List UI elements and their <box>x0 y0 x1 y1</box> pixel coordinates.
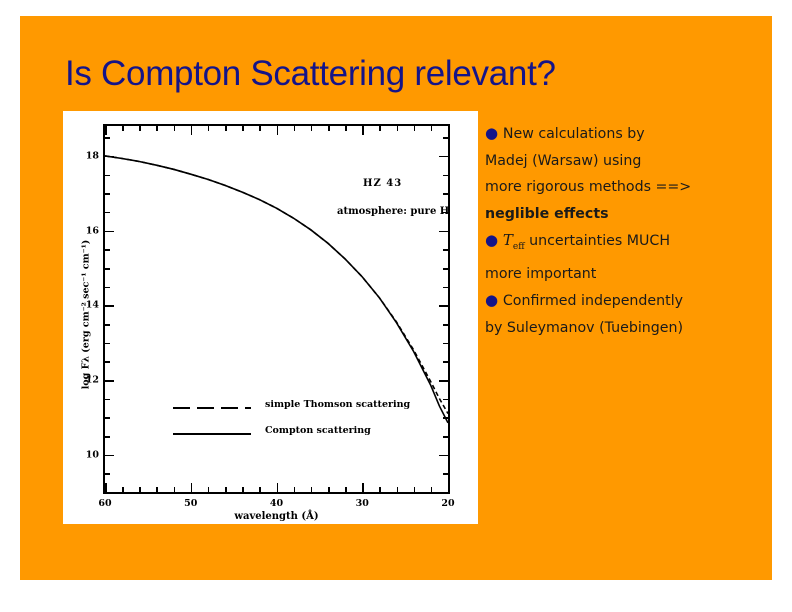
teff-symbol: Teff <box>503 231 525 249</box>
y-tick <box>105 324 110 326</box>
curve-thomson <box>105 156 448 414</box>
y-tick <box>105 473 110 475</box>
y-tick <box>105 343 110 345</box>
y-tick <box>443 436 448 438</box>
x-tick <box>225 487 227 492</box>
x-tick <box>328 126 330 131</box>
x-tick-label: 60 <box>98 498 111 509</box>
bullet-line: ● Teff uncertainties MUCH <box>485 227 760 261</box>
y-tick <box>443 268 448 270</box>
x-tick <box>294 126 296 131</box>
x-tick <box>311 487 313 492</box>
x-tick <box>311 126 313 131</box>
y-tick <box>443 249 448 251</box>
y-tick <box>105 287 110 289</box>
legend-label-thomson: simple Thomson scattering <box>265 399 410 410</box>
y-tick <box>443 492 448 494</box>
bullet-text: New calculations by <box>503 126 645 142</box>
x-tick <box>379 487 381 492</box>
bullet-line: more rigorous methods ==> <box>485 174 760 201</box>
legend-label-compton: Compton scattering <box>265 425 371 436</box>
y-tick <box>443 324 448 326</box>
bullet-line: Madej (Warsaw) using <box>485 148 760 175</box>
x-tick <box>294 487 296 492</box>
y-tick <box>443 343 448 345</box>
x-tick <box>379 126 381 131</box>
y-tick <box>443 137 448 139</box>
x-tick <box>345 126 347 131</box>
x-tick <box>448 483 450 492</box>
y-tick <box>105 193 110 195</box>
bullet-list: ● New calculations byMadej (Warsaw) usin… <box>485 120 760 341</box>
bullet-text: uncertainties MUCH <box>529 233 670 249</box>
y-tick <box>443 175 448 177</box>
x-tick <box>328 487 330 492</box>
y-tick <box>105 249 110 251</box>
legend-swatch-solid <box>173 433 251 435</box>
x-tick <box>414 126 416 131</box>
bullet-marker-icon: ● <box>485 124 503 142</box>
y-tick <box>105 175 110 177</box>
x-tick <box>277 483 279 492</box>
slide-background: Is Compton Scattering relevant? HZ 43 at… <box>20 16 772 580</box>
y-tick <box>443 193 448 195</box>
x-tick <box>174 487 176 492</box>
y-tick <box>105 436 110 438</box>
y-tick <box>439 305 448 307</box>
annotation-atmosphere: atmosphere: pure H <box>337 206 449 217</box>
x-tick <box>174 126 176 131</box>
bullet-text: by Suleymanov (Tuebingen) <box>485 320 683 336</box>
x-tick <box>191 126 193 135</box>
y-tick <box>105 212 110 214</box>
legend-swatch-dashed <box>173 407 251 409</box>
x-tick <box>277 126 279 135</box>
y-tick <box>443 473 448 475</box>
x-tick <box>397 126 399 131</box>
x-tick <box>414 487 416 492</box>
x-tick <box>105 483 107 492</box>
x-tick <box>397 487 399 492</box>
y-tick <box>105 492 110 494</box>
x-tick <box>139 487 141 492</box>
x-axis-title: wavelength (Å) <box>103 511 450 522</box>
x-tick <box>122 126 124 131</box>
teff-subscript: eff <box>513 242 525 252</box>
x-tick <box>259 126 261 131</box>
bullet-line: ● New calculations by <box>485 120 760 148</box>
x-tick <box>259 487 261 492</box>
y-tick <box>443 361 448 363</box>
bullet-line: by Suleymanov (Tuebingen) <box>485 315 760 342</box>
y-tick <box>105 156 114 158</box>
bullet-line: ● Confirmed independently <box>485 287 760 315</box>
y-tick <box>443 399 448 401</box>
bullet-text: Confirmed independently <box>503 293 683 309</box>
y-tick <box>105 231 114 233</box>
x-tick <box>156 487 158 492</box>
bullet-text: neglible effects <box>485 206 609 222</box>
bullet-text: Madej (Warsaw) using <box>485 153 641 169</box>
plot-area: HZ 43 atmosphere: pure H simple Thomson … <box>103 124 450 494</box>
y-axis-title: log Fλ (erg cm⁻² sec⁻¹ cm⁻¹) <box>81 200 92 430</box>
curve-compton <box>105 156 448 423</box>
bullet-line: more important <box>485 261 760 288</box>
bullet-marker-icon: ● <box>485 231 503 249</box>
annotation-object-name: HZ 43 <box>363 178 402 189</box>
x-tick <box>362 126 364 135</box>
y-tick <box>439 231 448 233</box>
y-tick <box>443 287 448 289</box>
x-tick-label: 20 <box>441 498 454 509</box>
x-tick <box>242 487 244 492</box>
y-tick <box>439 380 448 382</box>
x-tick <box>208 126 210 131</box>
x-tick <box>448 126 450 135</box>
x-tick <box>431 487 433 492</box>
x-tick <box>225 126 227 131</box>
x-tick <box>122 487 124 492</box>
bullet-text: more rigorous methods ==> <box>485 179 691 195</box>
y-tick <box>443 212 448 214</box>
y-tick <box>105 268 110 270</box>
x-tick <box>208 487 210 492</box>
x-tick <box>156 126 158 131</box>
x-tick-label: 50 <box>184 498 197 509</box>
y-tick <box>105 417 110 419</box>
y-tick <box>105 361 110 363</box>
y-tick-label: 18 <box>73 150 99 161</box>
bullet-text: more important <box>485 266 596 282</box>
x-tick <box>242 126 244 131</box>
x-tick <box>139 126 141 131</box>
y-tick <box>105 305 114 307</box>
y-tick <box>105 137 110 139</box>
x-tick-label: 30 <box>356 498 369 509</box>
page-title: Is Compton Scattering relevant? <box>65 54 745 94</box>
y-tick-label: 10 <box>73 449 99 460</box>
figure-panel: HZ 43 atmosphere: pure H simple Thomson … <box>63 111 478 524</box>
y-tick <box>105 455 114 457</box>
y-tick <box>439 455 448 457</box>
x-tick-label: 40 <box>270 498 283 509</box>
bullet-marker-icon: ● <box>485 291 503 309</box>
x-tick <box>362 483 364 492</box>
x-tick <box>191 483 193 492</box>
y-tick <box>105 380 114 382</box>
y-tick <box>439 156 448 158</box>
y-tick <box>443 417 448 419</box>
y-tick <box>105 399 110 401</box>
x-tick <box>105 126 107 135</box>
bullet-line: neglible effects <box>485 201 760 228</box>
x-tick <box>345 487 347 492</box>
x-tick <box>431 126 433 131</box>
